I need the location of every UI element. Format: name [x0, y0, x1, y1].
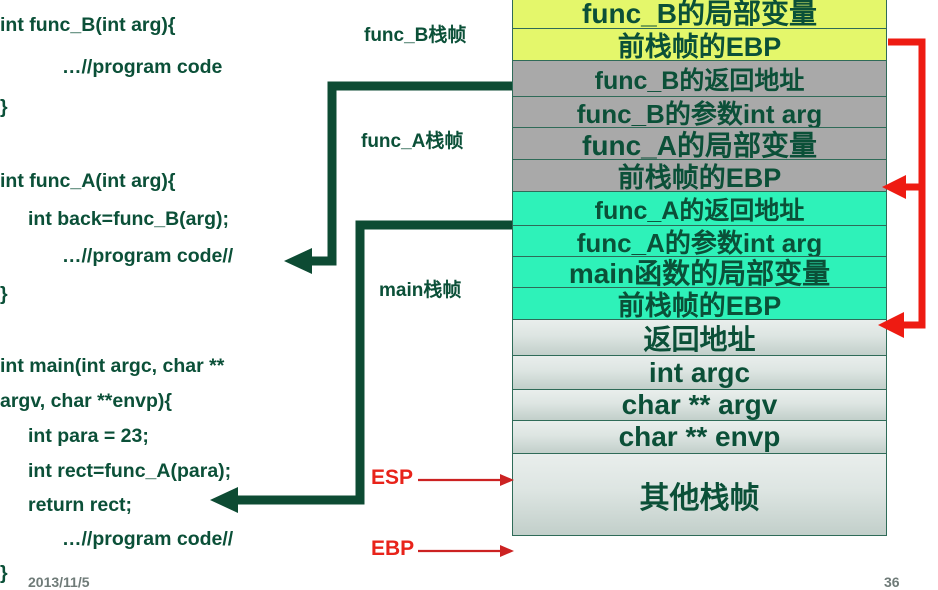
code-line: int func_A(int arg){ [0, 170, 352, 192]
code-line: argv, char **envp){ [0, 390, 352, 412]
stack-slot: char ** argv [512, 389, 887, 420]
code-line: } [0, 283, 352, 305]
stack-slot: char ** envp [512, 420, 887, 453]
code-line: } [0, 96, 352, 118]
esp-pointer-arrow [418, 474, 514, 486]
stack-slot: 前栈帧的EBP [512, 28, 887, 60]
stack-slot: 其他栈帧 [512, 453, 887, 536]
code-line: int func_B(int arg){ [0, 14, 352, 36]
stack-slot: func_A的局部变量 [512, 127, 887, 159]
stack-slot: 前栈帧的EBP [512, 159, 887, 191]
source-code-panel: int func_B(int arg){…//program code}int … [0, 0, 352, 587]
code-line: int back=func_B(arg); [0, 208, 380, 230]
ebp-pointer-arrow [418, 545, 514, 557]
frame-label: main栈帧 [379, 275, 461, 302]
code-line: return rect; [0, 494, 380, 516]
stack-slot: 返回地址 [512, 319, 887, 355]
code-line: int main(int argc, char ** [0, 355, 352, 377]
stack-slot: func_A的返回地址 [512, 191, 887, 225]
footer-page-number: 36 [884, 574, 900, 590]
stack-slot: main函数的局部变量 [512, 256, 887, 287]
register-label-esp: ESP [371, 466, 413, 490]
stack-slot: func_B的参数int arg [512, 96, 887, 127]
register-label-ebp: EBP [371, 537, 414, 561]
stack-slot: 前栈帧的EBP [512, 287, 887, 319]
code-line: …//program code [0, 56, 414, 78]
code-line: int para = 23; [0, 425, 380, 447]
stack-slot: func_B的返回地址 [512, 60, 887, 96]
frame-label: func_A栈帧 [361, 126, 463, 153]
footer-date: 2013/11/5 [28, 574, 90, 590]
stack-slot: func_B的局部变量 [512, 0, 887, 28]
red-arrow-ebp-chain-upper [882, 42, 922, 199]
stack-slot: int argc [512, 355, 887, 389]
frame-label: func_B栈帧 [364, 20, 466, 47]
code-line: …//program code// [0, 245, 414, 267]
code-line: int rect=func_A(para); [0, 460, 380, 482]
stack-diagram: func_B的局部变量前栈帧的EBPfunc_B的返回地址func_B的参数in… [512, 0, 887, 536]
code-line: …//program code// [0, 528, 414, 550]
